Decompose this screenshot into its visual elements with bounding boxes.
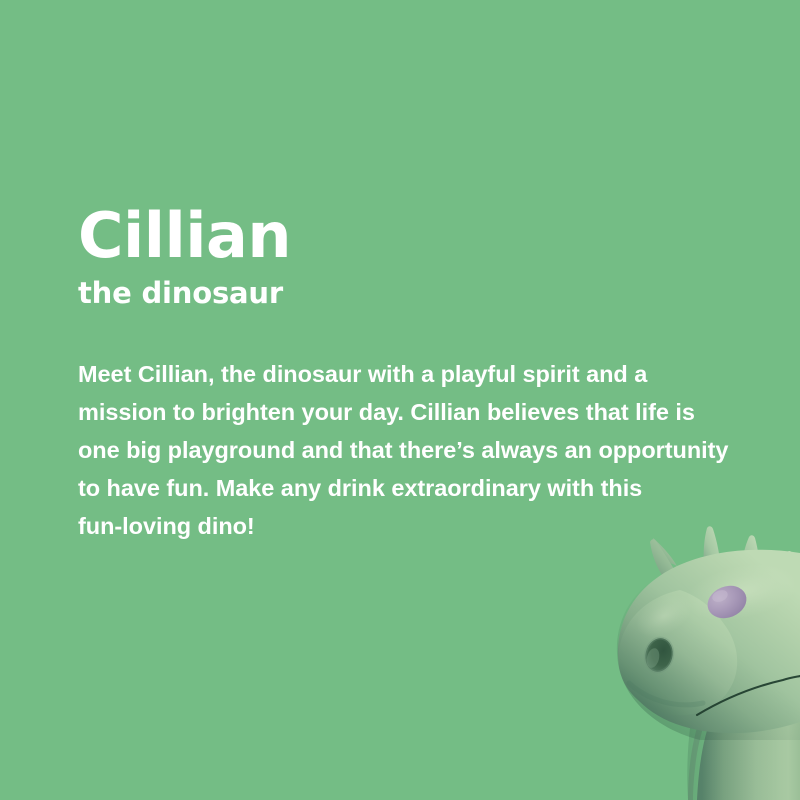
page-title: Cillian bbox=[78, 204, 778, 267]
character-text-block: Cillian the dinosaur Meet Cillian, the d… bbox=[78, 204, 778, 545]
description-line: Meet Cillian, the dinosaur with a playfu… bbox=[78, 355, 778, 393]
description-line: to have fun. Make any drink extraordinar… bbox=[78, 469, 778, 507]
character-card: Cillian the dinosaur Meet Cillian, the d… bbox=[0, 0, 800, 800]
description-line: one big playground and that there’s alwa… bbox=[78, 431, 778, 469]
dino-neck bbox=[640, 640, 800, 800]
dino-eye bbox=[703, 580, 752, 624]
page-subtitle: the dinosaur bbox=[78, 277, 778, 310]
dino-nostril bbox=[642, 635, 676, 675]
dino-spikes bbox=[650, 526, 800, 684]
dino-collar-line bbox=[697, 676, 800, 715]
dino-head bbox=[590, 540, 800, 760]
description-line: fun-loving dino! bbox=[78, 507, 778, 545]
character-description: Meet Cillian, the dinosaur with a playfu… bbox=[78, 355, 778, 545]
description-line: mission to brighten your day. Cillian be… bbox=[78, 393, 778, 431]
